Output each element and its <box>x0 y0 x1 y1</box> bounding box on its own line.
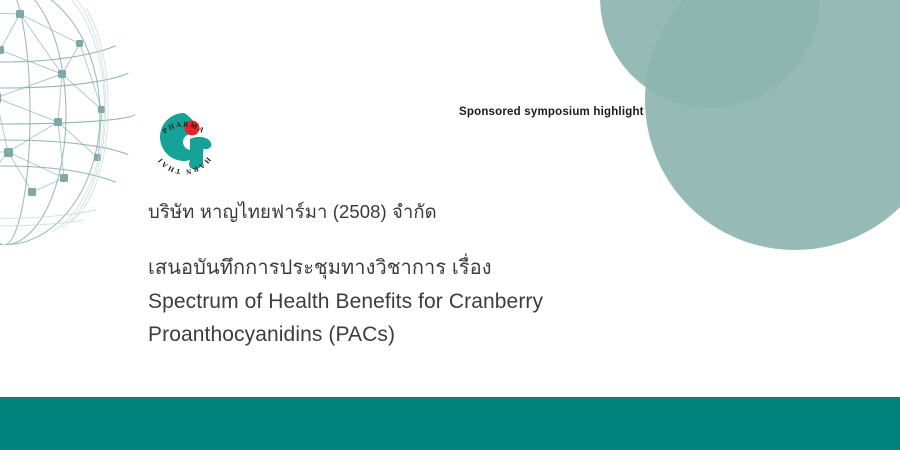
overlapping-circles-decoration <box>580 0 900 262</box>
title-line-english-1: Spectrum of Health Benefits for Cranberr… <box>148 285 668 318</box>
title-block: เสนอบันทึกการประชุมทางวิชาการ เรื่อง Spe… <box>148 252 668 351</box>
sponsored-kicker: Sponsored symposium highlight <box>459 106 644 118</box>
globe-wireframe-icon <box>0 0 162 247</box>
bottom-brand-bar <box>0 397 900 450</box>
harn-thai-pharma-logo-icon: PHARMA HARN THAI <box>147 99 221 189</box>
slide-canvas: Sponsored symposium highlight PHARMA H <box>0 0 900 450</box>
title-line-english-2: Proanthocyanidins (PACs) <box>148 318 668 351</box>
company-name: บริษัท หาญไทยฟาร์มา (2508) จำกัด <box>148 198 437 227</box>
title-line-thai: เสนอบันทึกการประชุมทางวิชาการ เรื่อง <box>148 252 668 285</box>
